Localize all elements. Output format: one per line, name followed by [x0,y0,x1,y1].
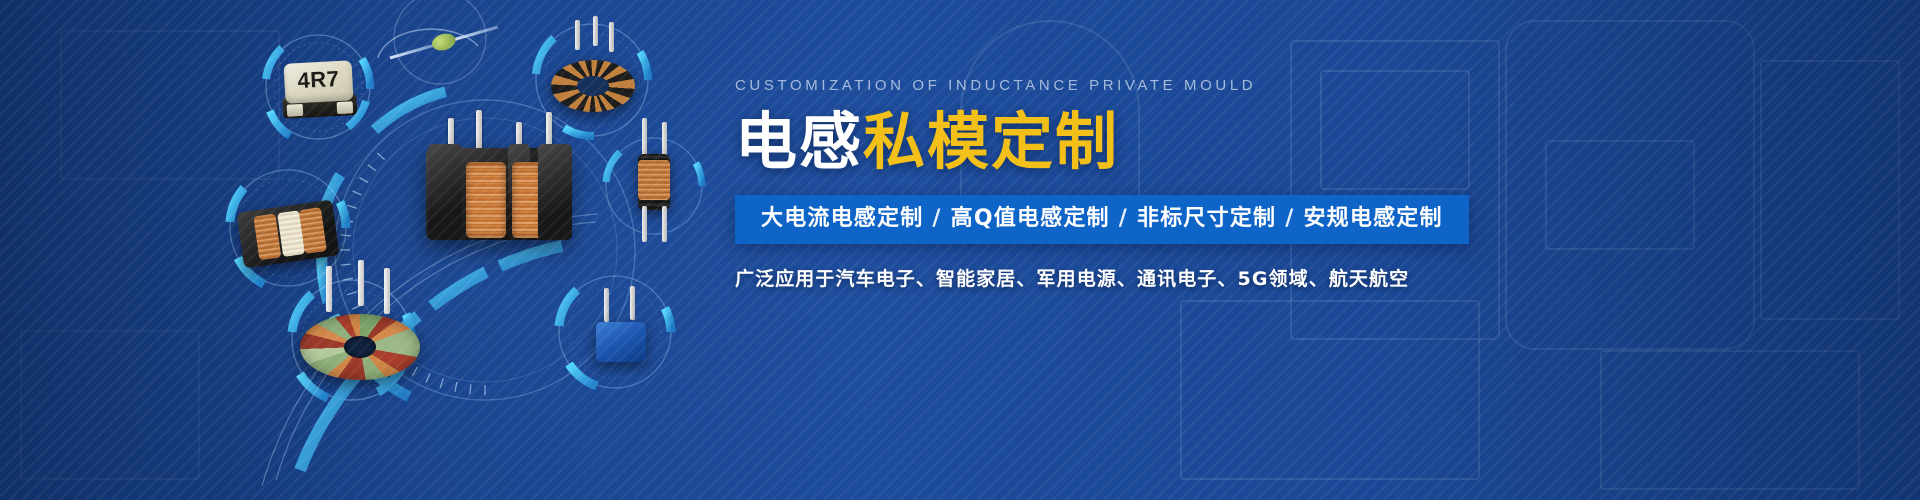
feature-item-1: 高Q值电感定制 [951,206,1110,231]
feature-item-2: 非标尺寸定制 [1137,206,1276,231]
choke-block-right [538,144,572,240]
smd-pad-right [337,101,354,114]
rod-lead-bottom [642,206,647,242]
product-ferrite-rod-choke [628,140,680,244]
bead-wire-right [451,26,498,42]
product-toroidal-inductor-green [300,300,420,388]
rod-lead-top-2 [662,122,667,158]
toroid-hole [344,336,376,358]
rod-lead-top [642,118,647,158]
headline-white-part: 电感 [735,105,863,178]
bluecap-lead-left [604,288,609,322]
bluecap-lead-right [630,286,635,320]
banner-tagline: 广泛应用于汽车电子、智能家居、军用电源、通讯电子、5G领域、航天航空 [735,270,1735,289]
feature-list: 大电流电感定制/高Q值电感定制/非标尺寸定制/安规电感定制 [761,206,1443,231]
promo-banner: CUSTOMIZATION OF INDUCTANCE PRIVATE MOUL… [0,0,1920,500]
minitor-lead-2 [593,16,598,46]
toroid-lead-1 [326,266,332,312]
toroid-lead-2 [358,260,364,306]
minitor-hole [577,76,609,96]
feature-item-0: 大电流电感定制 [761,206,923,231]
bead-body [430,31,457,53]
product-common-mode-choke [410,118,586,254]
rod-winding [638,160,670,200]
feature-item-3: 安规电感定制 [1303,206,1442,231]
bluecap-body [596,322,646,362]
banner-eyebrow: CUSTOMIZATION OF INDUCTANCE PRIVATE MOUL… [735,78,1735,93]
product-radial-lead-inductor-blue [582,296,648,380]
feature-separator-1: / [1110,206,1137,231]
headline-gold-part: 私模定制 [863,105,1119,178]
minitor-lead-1 [575,20,580,50]
banner-copy: CUSTOMIZATION OF INDUCTANCE PRIVATE MOUL… [735,78,1735,289]
rod-lead-bottom-2 [662,206,667,242]
feature-pill-bar: 大电流电感定制/高Q值电感定制/非标尺寸定制/安规电感定制 [735,195,1469,244]
product-bobbin-transformer [235,190,340,277]
choke-winding-left [466,162,506,238]
smd-pad-left [287,104,304,117]
feature-separator-2: / [1276,206,1303,231]
smd-top-marking [284,60,354,104]
product-smd-power-inductor [281,60,358,122]
feature-separator-0: / [923,206,950,231]
banner-headline: 电感私模定制 [735,109,1735,175]
product-toroidal-choke-copper [545,42,641,120]
choke-block-left [428,144,462,240]
minitor-lead-3 [609,22,614,52]
toroid-lead-3 [384,268,390,314]
bead-wire-left [390,43,437,59]
